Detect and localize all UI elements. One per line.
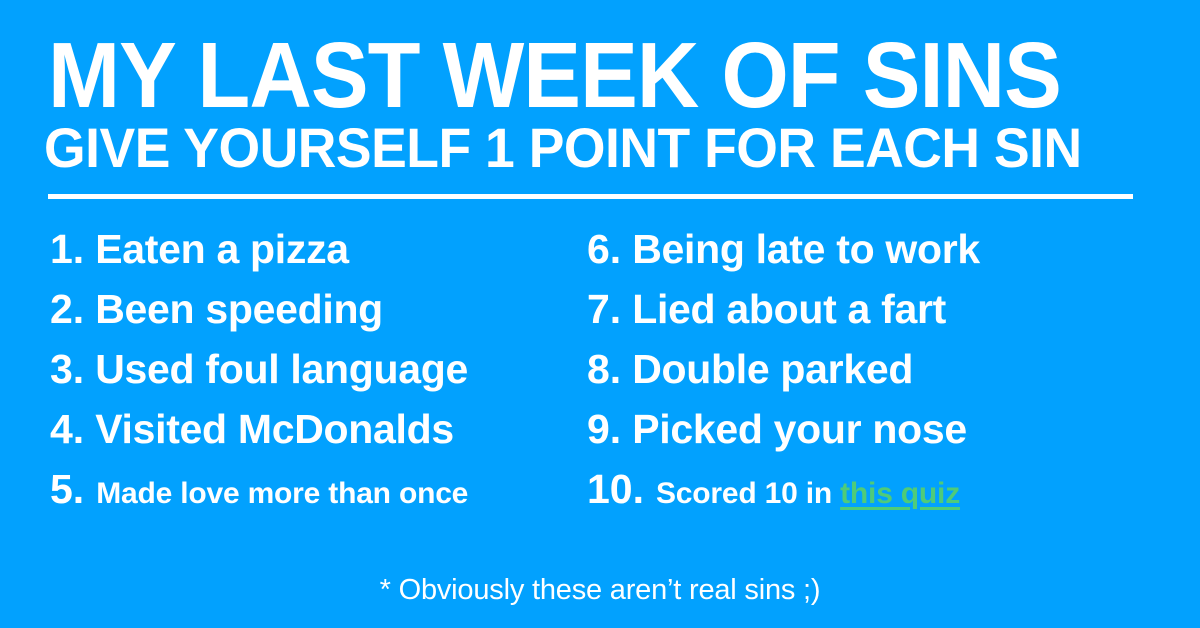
list-item-label: Picked your nose: [632, 399, 967, 459]
list-item: 1. Eaten a pizza: [50, 219, 587, 279]
page-title: MY LAST WEEK OF SINS: [48, 31, 1058, 119]
list-item: 5. Made love more than once: [50, 459, 587, 519]
list-item-number: 3.: [50, 339, 84, 399]
list-item-number: 4.: [50, 399, 84, 459]
quiz-link[interactable]: this quiz: [840, 477, 960, 510]
list-item-label: Made love more than once: [96, 464, 468, 524]
list-item: 4. Visited McDonalds: [50, 399, 587, 459]
header-divider: [48, 194, 1133, 199]
list-item-number: 5.: [50, 459, 84, 519]
sins-list: 1. Eaten a pizza 2. Been speeding 3. Use…: [0, 219, 1200, 524]
poster-canvas: MY LAST WEEK OF SINS GIVE YOURSELF 1 POI…: [0, 0, 1200, 628]
list-item: 10. Scored 10 in this quiz: [587, 459, 1150, 519]
list-item-number: 8.: [587, 339, 621, 399]
list-item-number: 9.: [587, 399, 621, 459]
list-item: 3. Used foul language: [50, 339, 587, 399]
list-item-label: Scored 10 in this quiz: [656, 464, 960, 524]
list-item: 8. Double parked: [587, 339, 1150, 399]
sins-column-left: 1. Eaten a pizza 2. Been speeding 3. Use…: [0, 219, 587, 524]
sins-column-right: 6. Being late to work 7. Lied about a fa…: [587, 219, 1150, 524]
list-item-number: 6.: [587, 219, 621, 279]
list-item-label: Visited McDonalds: [95, 399, 454, 459]
list-item-label: Lied about a fart: [632, 279, 946, 339]
footnote-text: * Obviously these aren’t real sins ;): [0, 570, 1200, 610]
list-item-number: 10.: [587, 459, 644, 519]
list-item-number: 1.: [50, 219, 84, 279]
list-item-text: Scored 10 in: [656, 477, 840, 510]
list-item: 9. Picked your nose: [587, 399, 1150, 459]
list-item-label: Being late to work: [632, 219, 980, 279]
list-item-label: Eaten a pizza: [95, 219, 349, 279]
list-item-number: 2.: [50, 279, 84, 339]
list-item-label: Double parked: [632, 339, 913, 399]
list-item-label: Used foul language: [95, 339, 468, 399]
list-item-label: Been speeding: [95, 279, 383, 339]
list-item: 7. Lied about a fart: [587, 279, 1150, 339]
list-item: 6. Being late to work: [587, 219, 1150, 279]
list-item-number: 7.: [587, 279, 621, 339]
list-item: 2. Been speeding: [50, 279, 587, 339]
page-subtitle: GIVE YOURSELF 1 POINT FOR EACH SIN: [44, 121, 1090, 175]
